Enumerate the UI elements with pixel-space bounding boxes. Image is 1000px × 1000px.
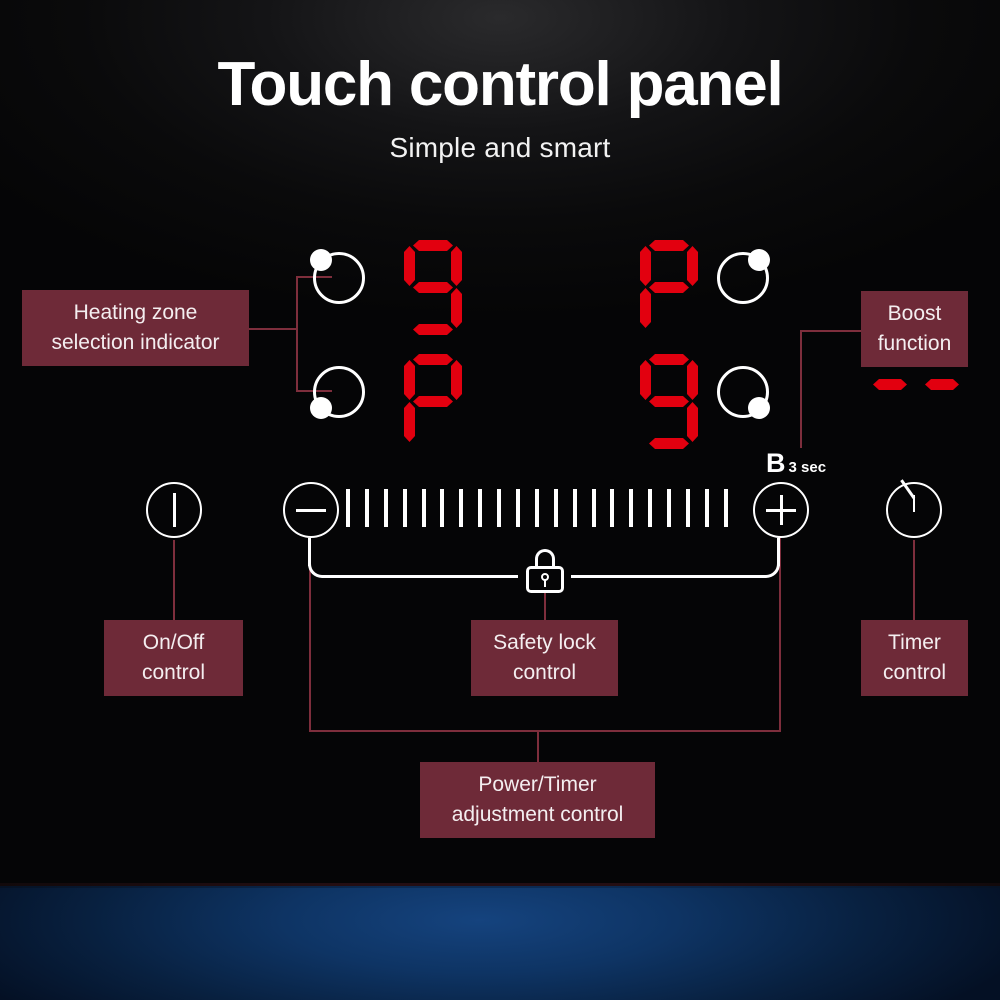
- zone-display-top-left: [404, 240, 462, 336]
- slider-tick: [686, 489, 690, 527]
- connector-power-timer-stem: [537, 730, 539, 762]
- segment-b: [687, 360, 698, 400]
- callout-timer-line2: control: [883, 658, 946, 688]
- zone-indicator-bottom-left[interactable]: [310, 363, 366, 419]
- slider-tick: [459, 489, 463, 527]
- zone-ring-dot: [748, 249, 770, 271]
- connector-safety-lock: [544, 592, 546, 620]
- callout-boost-line1: Boost: [878, 299, 952, 329]
- boost-hint-duration: 3 sec: [789, 459, 827, 476]
- segment-a: [649, 354, 689, 365]
- connector-heating-zone-stem: [248, 328, 298, 330]
- boost-hint-letter: B: [766, 448, 786, 478]
- callout-power-timer-line2: adjustment control: [452, 800, 624, 830]
- plus-icon-vertical: [780, 495, 783, 525]
- segment-e: [404, 402, 415, 442]
- bracket-right-vertical: [777, 538, 780, 566]
- minus-icon: [296, 509, 326, 512]
- padlock-icon[interactable]: [526, 549, 564, 593]
- segment-f: [640, 360, 651, 400]
- segment-f: [404, 246, 415, 286]
- callout-on-off: On/Off control: [104, 620, 243, 696]
- connector-heating-zone-spine: [296, 276, 298, 392]
- segment-c: [451, 288, 462, 328]
- callout-boost: Boost function: [861, 291, 968, 367]
- page-subtitle: Simple and smart: [0, 132, 1000, 164]
- slider-tick: [573, 489, 577, 527]
- callout-timer: Timer control: [861, 620, 968, 696]
- segment-f: [404, 360, 415, 400]
- clock-icon-minute-hand: [900, 479, 915, 498]
- callout-on-off-line1: On/Off: [142, 628, 205, 658]
- footer-blue-band: [0, 886, 1000, 1000]
- zone-ring-dot: [310, 249, 332, 271]
- slider-tick: [724, 489, 728, 527]
- connector-on-off: [173, 540, 175, 620]
- slider-tick: [403, 489, 407, 527]
- segment-g: [649, 282, 689, 293]
- callout-safety-lock: Safety lock control: [471, 620, 618, 696]
- power-on-off-button[interactable]: [146, 482, 202, 538]
- padlock-keyhole-stem: [544, 580, 547, 587]
- callout-safety-lock-line2: control: [493, 658, 596, 688]
- decrease-button[interactable]: [283, 482, 339, 538]
- zone-indicator-top-left[interactable]: [310, 249, 366, 305]
- boost-dash-right: [925, 379, 959, 390]
- increase-button[interactable]: [753, 482, 809, 538]
- slider-tick: [440, 489, 444, 527]
- slider-tick: [422, 489, 426, 527]
- zone-ring-dot: [748, 397, 770, 419]
- connector-boost-vertical: [800, 330, 802, 448]
- segment-a: [413, 354, 453, 365]
- zone-indicator-bottom-right[interactable]: [714, 363, 770, 419]
- segment-g: [413, 396, 453, 407]
- segment-b: [451, 246, 462, 286]
- zone-indicator-top-right[interactable]: [714, 249, 770, 305]
- connector-boost-horizontal: [800, 330, 862, 332]
- segment-b: [451, 360, 462, 400]
- page-title: Touch control panel: [0, 52, 1000, 117]
- slider-tick: [535, 489, 539, 527]
- zone-display-top-right: [640, 240, 698, 336]
- bracket-left-horizontal: [322, 575, 518, 578]
- callout-power-timer-line1: Power/Timer: [452, 770, 624, 800]
- slider-tick: [365, 489, 369, 527]
- segment-c: [687, 402, 698, 442]
- boost-dash-left: [873, 379, 907, 390]
- slider-tick: [648, 489, 652, 527]
- callout-safety-lock-line1: Safety lock: [493, 628, 596, 658]
- connector-timer: [913, 540, 915, 620]
- boost-hold-hint: B3 sec: [766, 448, 826, 479]
- callout-power-timer: Power/Timer adjustment control: [420, 762, 655, 838]
- segment-d: [413, 324, 453, 335]
- callout-boost-line2: function: [878, 329, 952, 359]
- segment-d: [649, 438, 689, 449]
- zone-display-bottom-right: [640, 354, 698, 450]
- callout-heating-zone-line1: Heating zone: [51, 298, 219, 328]
- segment-b: [687, 246, 698, 286]
- slider-tick: [384, 489, 388, 527]
- slider-tick: [610, 489, 614, 527]
- slider-tick: [346, 489, 350, 527]
- slider-tick: [667, 489, 671, 527]
- segment-g: [649, 396, 689, 407]
- slider-track[interactable]: [346, 489, 728, 527]
- timer-button[interactable]: [886, 482, 942, 538]
- segment-e: [640, 288, 651, 328]
- callout-heating-zone: Heating zone selection indicator: [22, 290, 249, 366]
- slider-tick: [478, 489, 482, 527]
- slider-tick: [629, 489, 633, 527]
- callout-timer-line1: Timer: [883, 628, 946, 658]
- segment-a: [649, 240, 689, 251]
- connector-power-timer-base: [309, 730, 781, 732]
- bracket-right-horizontal: [571, 575, 765, 578]
- segment-f: [640, 246, 651, 286]
- slider-tick: [705, 489, 709, 527]
- slider-tick: [516, 489, 520, 527]
- segment-a: [413, 240, 453, 251]
- callout-heating-zone-line2: selection indicator: [51, 328, 219, 358]
- slider-tick: [554, 489, 558, 527]
- callout-on-off-line2: control: [142, 658, 205, 688]
- zone-ring-dot: [310, 397, 332, 419]
- slider-tick: [497, 489, 501, 527]
- power-on-off-icon: [173, 493, 176, 527]
- touch-control-panel-diagram: Touch control panel Simple and smart: [0, 0, 1000, 1000]
- segment-g: [413, 282, 453, 293]
- slider-tick: [592, 489, 596, 527]
- zone-display-bottom-left: [404, 354, 462, 450]
- boost-indicator: [873, 379, 959, 390]
